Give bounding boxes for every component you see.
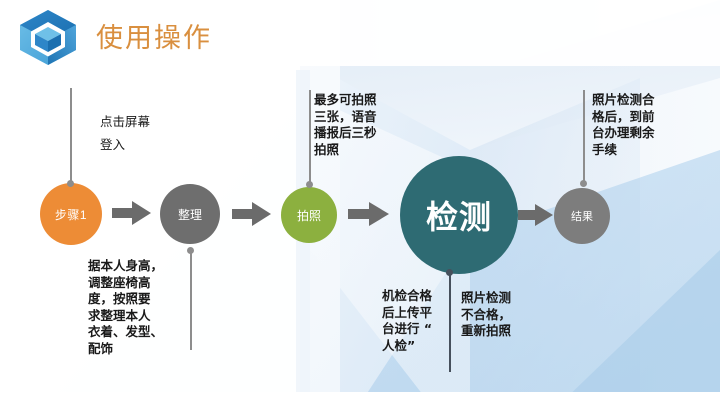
callout-adjust-line-6: 配饰: [88, 341, 192, 358]
callout-machine-check-line-3: 台进行 “: [382, 321, 460, 338]
flow-node-photo-label: 拍照: [297, 207, 321, 224]
callout-fail-retake-line-2: 不合格，: [461, 307, 547, 324]
callout-fail-retake-line-3: 重新拍照: [461, 323, 547, 340]
flow-arrow-4: [518, 203, 554, 232]
flow-node-detect[interactable]: 检测: [400, 156, 518, 274]
callout-login-line-2: 登入: [100, 133, 220, 156]
callout-machine-check-line-2: 后上传平: [382, 305, 460, 322]
callout-pass-line-2: 格后，到前: [592, 109, 698, 126]
flow-node-result[interactable]: 结果: [554, 188, 610, 244]
callout-adjust-line-5: 衣着、发型、: [88, 324, 192, 341]
callout-adjust: 据本人身高， 调整座椅高 度，按照要 求整理本人 衣着、发型、 配饰: [88, 258, 192, 357]
callout-pass-line-1: 照片检测合: [592, 92, 698, 109]
slide-header: 使用操作: [0, 0, 720, 72]
connector-line: [583, 90, 585, 186]
callout-shoot-line-4: 拍照: [314, 142, 414, 159]
callout-adjust-line-2: 调整座椅高: [88, 275, 192, 292]
flow-node-step1[interactable]: 步骤1: [40, 183, 102, 245]
callout-fail-retake-line-1: 照片检测: [461, 290, 547, 307]
callout-machine-check-line-1: 机检合格: [382, 288, 460, 305]
connector-line: [309, 90, 311, 187]
page-title: 使用操作: [96, 22, 212, 56]
flow-node-tidy[interactable]: 整理: [160, 184, 220, 244]
callout-adjust-line-3: 度，按照要: [88, 291, 192, 308]
callout-pass: 照片检测合 格后，到前 台办理剩余 手续: [592, 92, 698, 158]
callout-pass-line-3: 台办理剩余: [592, 125, 698, 142]
flow-node-photo[interactable]: 拍照: [281, 187, 337, 243]
flow-arrow-1-svg: [112, 200, 152, 226]
callout-login: 点击屏幕 登入: [100, 110, 220, 156]
hex-cube-logo-svg: [14, 6, 82, 68]
callout-machine-check: 机检合格 后上传平 台进行 “ 人检”: [382, 288, 460, 354]
flow-node-detect-label: 检测: [426, 192, 492, 238]
flow-node-step1-label: 步骤1: [55, 206, 87, 223]
flow-arrow-1: [112, 200, 152, 231]
flow-arrow-3-svg: [348, 201, 390, 227]
flow-arrow-3: [348, 201, 390, 232]
flow-arrow-2: [232, 201, 272, 232]
hex-cube-logo: [14, 6, 82, 68]
callout-shoot-line-1: 最多可拍照: [314, 92, 414, 109]
callout-machine-check-line-4: 人检”: [382, 338, 460, 355]
callout-adjust-line-4: 求整理本人: [88, 308, 192, 325]
flow-node-result-label: 结果: [571, 208, 593, 224]
callout-pass-line-4: 手续: [592, 142, 698, 159]
slide-canvas: 使用操作: [0, 0, 720, 404]
callout-fail-retake: 照片检测 不合格， 重新拍照: [461, 290, 547, 340]
flow-arrow-2-svg: [232, 201, 272, 227]
callout-login-line-1: 点击屏幕: [100, 110, 220, 133]
flow-node-tidy-label: 整理: [178, 206, 202, 223]
connector-line: [70, 88, 72, 186]
callout-shoot-line-2: 三张，语音: [314, 109, 414, 126]
callout-shoot-line-3: 播报后三秒: [314, 125, 414, 142]
flow-arrow-4-svg: [518, 203, 554, 227]
callout-adjust-line-1: 据本人身高，: [88, 258, 192, 275]
callout-shoot: 最多可拍照 三张，语音 播报后三秒 拍照: [314, 92, 414, 158]
